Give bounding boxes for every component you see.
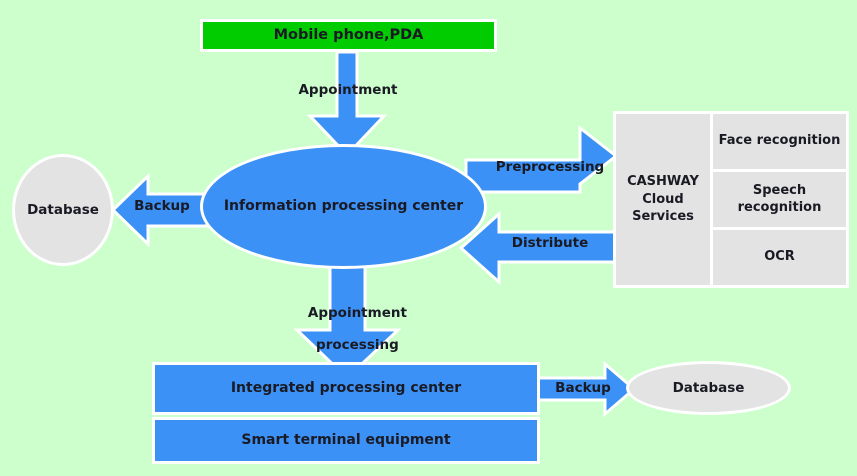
arrow-label-backup-left: Backup [131,199,193,215]
arrow-appointment [310,52,384,155]
cloud-label-line-1: CASHWAY [627,174,699,189]
node-integrated-processing-center-label: Integrated processing center [231,380,461,397]
speech-label-line-1: Speech [753,183,806,198]
node-database-bottom-label: Database [673,380,745,396]
speech-label-line-2: recognition [738,200,822,215]
node-smart-terminal-equipment[interactable]: Smart terminal equipment [152,417,540,464]
flow-diagram: Mobile phone,PDA Information processing … [0,0,857,476]
arrow-label-backup-bottom: Backup [548,381,618,397]
node-cashway-cloud-services-label-cell: CASHWAY Cloud Services [616,114,713,285]
node-mobile-phone-pda-label: Mobile phone,PDA [274,27,424,45]
node-information-processing-center-label: Information processing center [224,198,463,215]
cloud-service-speech-recognition[interactable]: Speech recognition [713,169,846,227]
cloud-service-list: Face recognition Speech recognition OCR [713,114,846,285]
cloud-service-speech-recognition-label: Speech recognition [738,183,822,217]
node-database-left-label: Database [27,202,99,218]
cloud-service-ocr[interactable]: OCR [713,227,846,285]
node-information-processing-center[interactable]: Information processing center [200,144,487,269]
cloud-service-face-recognition-label: Face recognition [719,133,841,150]
cloud-service-face-recognition[interactable]: Face recognition [713,114,846,169]
node-database-left[interactable]: Database [12,154,114,266]
arrow-label-distribute: Distribute [500,236,600,252]
arrow-label-appointment-processing-line-2: processing [316,337,399,353]
arrow-label-appointment-processing: Appointment processing [268,290,428,370]
node-mobile-phone-pda[interactable]: Mobile phone,PDA [200,19,497,52]
node-cashway-cloud-services-label: CASHWAY Cloud Services [627,173,699,226]
arrow-label-appointment: Appointment [268,83,428,99]
node-integrated-processing-center[interactable]: Integrated processing center [152,362,540,415]
cloud-label-line-3: Services [632,209,694,224]
node-cashway-cloud-services[interactable]: CASHWAY Cloud Services Face recognition … [613,111,849,288]
cloud-label-line-2: Cloud [642,192,684,207]
arrow-label-preprocessing: Preprocessing [490,160,610,176]
cloud-service-ocr-label: OCR [764,249,795,266]
arrow-label-appointment-processing-line-1: Appointment [308,305,407,321]
node-database-bottom[interactable]: Database [626,361,791,415]
node-smart-terminal-equipment-label: Smart terminal equipment [241,432,450,449]
